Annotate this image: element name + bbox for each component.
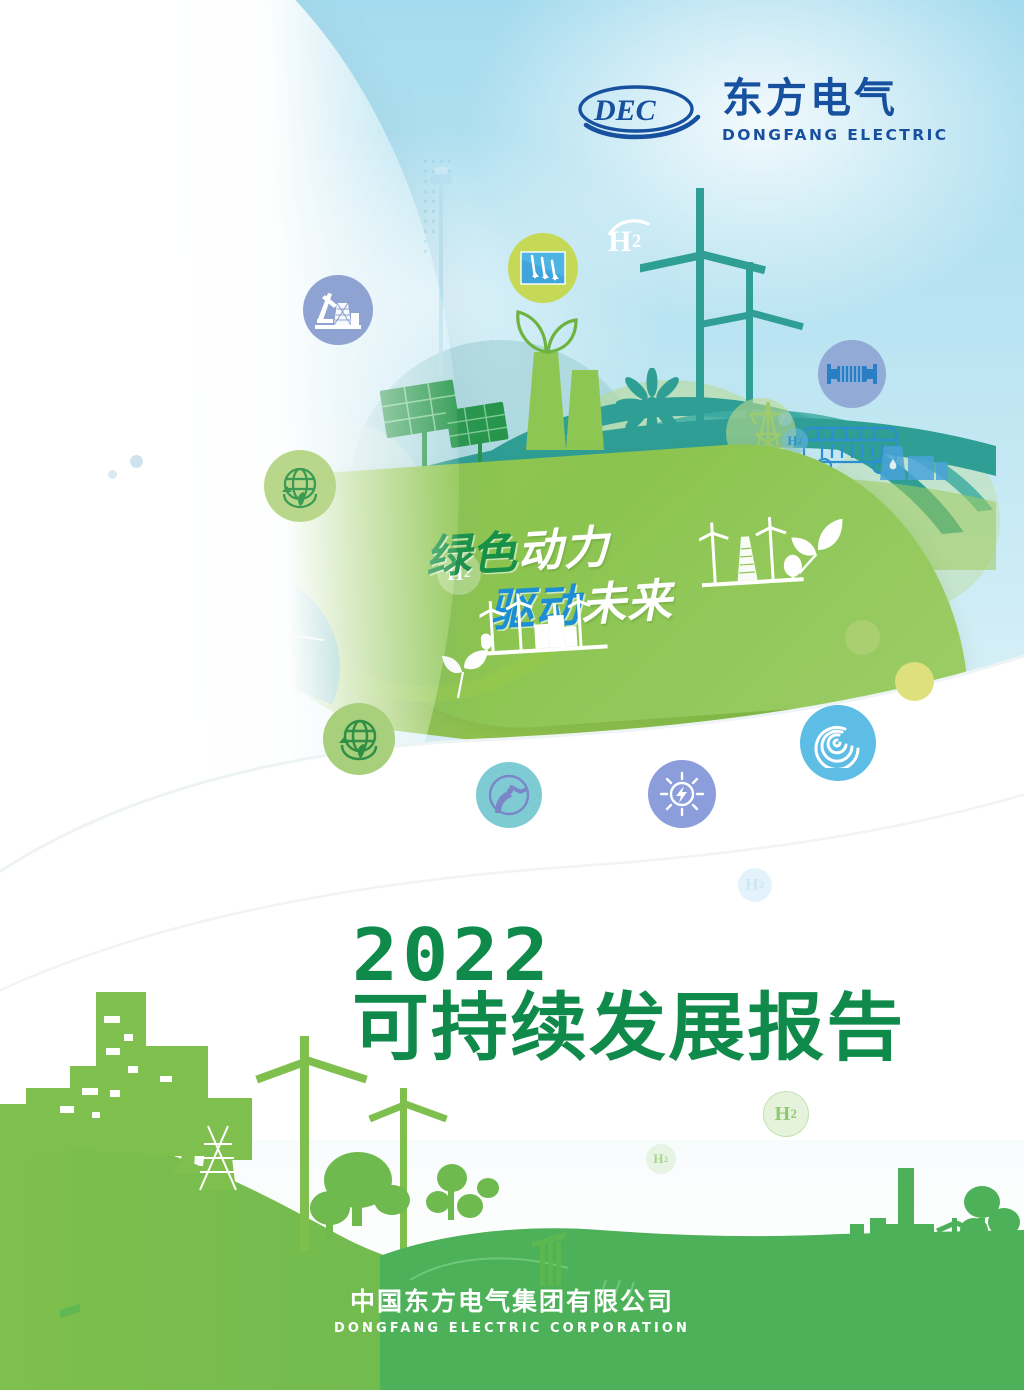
badge-robot-arm [476, 762, 542, 828]
slogan-white-text: 动力 [516, 524, 611, 574]
spiral-signal-icon [813, 718, 863, 768]
badge-eco-globe-lower [323, 703, 395, 775]
oil-pumpjack-icon [315, 289, 361, 331]
badge-hydro-dam [508, 233, 578, 303]
report-cover-poster: H2 H2 绿色 动力 驱动 未来 [0, 0, 1024, 1390]
bubble-small-bus [778, 412, 792, 426]
report-year: 2022 [352, 922, 946, 988]
decor-dot-yellow [895, 662, 934, 701]
badge-signal-spiral [800, 705, 876, 781]
turbine-generator-icon [827, 360, 877, 388]
leaf-sprig-icon [790, 518, 847, 577]
h2-label: H [745, 875, 759, 895]
h2-label: H [787, 433, 798, 449]
nuclear-plant-icon [880, 428, 950, 480]
robot-arm-icon [485, 771, 533, 819]
h2-label: H [608, 225, 632, 259]
footer-company-cn: 中国东方电气集团有限公司 [0, 1288, 1024, 1317]
hydro-dam-icon [520, 251, 566, 285]
h2-bubble-city-small: H2 [646, 1144, 676, 1174]
factory-silhouette [840, 1168, 1024, 1298]
brand-logo[interactable]: DEC 东方电气 DONGFANG ELECTRIC [576, 78, 949, 144]
h2-sub: 2 [759, 880, 765, 891]
footer-block: 中国东方电气集团有限公司 DONGFANG ELECTRIC CORPORATI… [0, 1288, 1024, 1336]
decor-dot-pale-a [130, 455, 143, 468]
badge-eco-globe-top [264, 450, 336, 522]
badge-solar-power [648, 760, 716, 828]
brand-name-cn: 东方电气 [722, 78, 949, 119]
h2-bubble-mid: H2 [738, 868, 772, 902]
badge-oil-pumpjack [303, 275, 373, 345]
svg-text:DEC: DEC [593, 94, 657, 127]
h2-sky-mark: H2 [602, 226, 648, 258]
h2-sub: 2 [664, 1155, 669, 1164]
h2-sub: 2 [632, 231, 642, 253]
dec-logo-mark-icon: DEC [576, 81, 706, 141]
brand-name-en: DONGFANG ELECTRIC [722, 126, 949, 144]
h2-sub: 2 [798, 437, 803, 446]
cooling-tower-icon [506, 300, 626, 450]
footer-company-en: DONGFANG ELECTRIC CORPORATION [0, 1321, 1024, 1336]
badge-generator [818, 340, 886, 408]
h2-label: H [775, 1103, 791, 1126]
leaf-sprout-icon [518, 312, 576, 352]
h2-label: H [653, 1151, 664, 1167]
eco-globe-icon [335, 715, 383, 763]
decor-dot-pale-b [108, 470, 117, 479]
eco-globe-icon [276, 462, 324, 510]
h2-sub: 2 [791, 1107, 798, 1122]
decor-dot-green [845, 620, 880, 655]
sun-bolt-icon [658, 770, 706, 818]
h2-bubble-city-large: H2 [763, 1091, 809, 1137]
